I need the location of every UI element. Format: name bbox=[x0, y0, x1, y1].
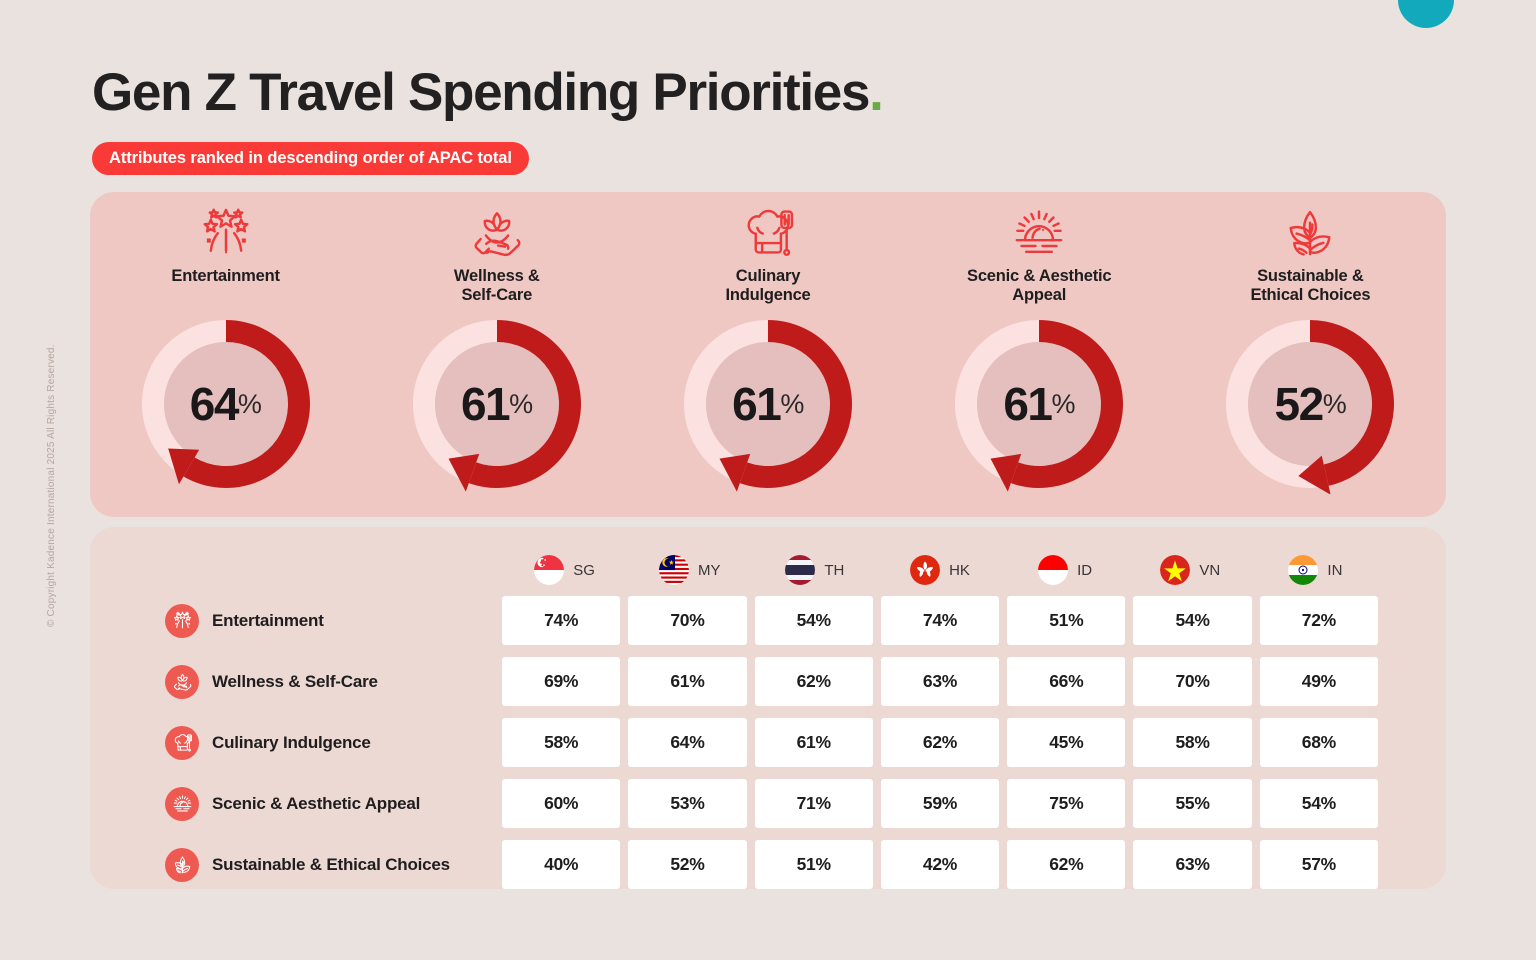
attribute-name: Culinary Indulgence bbox=[212, 733, 371, 753]
donut-label: CulinaryIndulgence bbox=[725, 267, 810, 306]
market-code: ID bbox=[1077, 562, 1092, 579]
table-cell: 63% bbox=[881, 657, 999, 706]
flag-malaysia bbox=[659, 555, 689, 585]
table-row: Wellness & Self-Care 69%61%62%63%66%70%4… bbox=[165, 654, 1378, 709]
page-title: Gen Z Travel Spending Priorities. bbox=[92, 62, 883, 123]
market-code: TH bbox=[824, 562, 844, 579]
flag-india bbox=[1288, 555, 1318, 585]
table-row-label: Sustainable & Ethical Choices bbox=[165, 848, 502, 882]
donut-chart: 61% bbox=[949, 314, 1129, 494]
table-row-label: Entertainment bbox=[165, 604, 502, 638]
table-cell: 66% bbox=[1007, 657, 1125, 706]
table-row-values: 58%64%61%62%45%58%68% bbox=[502, 718, 1378, 767]
donut-label-line1: Entertainment bbox=[171, 267, 279, 285]
leaf-plant-icon bbox=[165, 848, 199, 882]
donut-chart: 64% bbox=[136, 314, 316, 494]
table-cell: 54% bbox=[1260, 779, 1378, 828]
chef-hat-spatula-icon bbox=[740, 203, 796, 261]
table-cell: 51% bbox=[1007, 596, 1125, 645]
table-cell: 75% bbox=[1007, 779, 1125, 828]
fireworks-icon bbox=[165, 604, 199, 638]
donut-chart: 52% bbox=[1220, 314, 1400, 494]
hand-lotus-icon bbox=[165, 665, 199, 699]
table-row-label: Culinary Indulgence bbox=[165, 726, 502, 760]
table-cell: 72% bbox=[1260, 596, 1378, 645]
market-code: SG bbox=[573, 562, 595, 579]
flag-hongkong bbox=[910, 555, 940, 585]
table-cell: 58% bbox=[1133, 718, 1251, 767]
table-column-header: VN bbox=[1128, 545, 1253, 595]
flag-singapore bbox=[534, 555, 564, 585]
table-row: Culinary Indulgence 58%64%61%62%45%58%68… bbox=[165, 715, 1378, 770]
sunrise-icon bbox=[165, 787, 199, 821]
table-panel: SG MY TH HK ID VN IN Entertainment 74%70… bbox=[90, 527, 1446, 889]
donut-card: Entertainment 64% bbox=[90, 192, 361, 517]
table-cell: 51% bbox=[755, 840, 873, 889]
table-cell: 57% bbox=[1260, 840, 1378, 889]
attribute-name: Entertainment bbox=[212, 611, 324, 631]
market-code: VN bbox=[1199, 562, 1220, 579]
table-cell: 40% bbox=[502, 840, 620, 889]
subtitle-badge: Attributes ranked in descending order of… bbox=[92, 142, 529, 175]
flag-vietnam bbox=[1160, 555, 1190, 585]
table-cell: 62% bbox=[755, 657, 873, 706]
market-code: IN bbox=[1327, 562, 1342, 579]
table-row-values: 40%52%51%42%62%63%57% bbox=[502, 840, 1378, 889]
table-cell: 62% bbox=[881, 718, 999, 767]
table-cell: 53% bbox=[628, 779, 746, 828]
donut-label-line2: Appeal bbox=[1012, 286, 1066, 304]
attribute-name: Wellness & Self-Care bbox=[212, 672, 378, 692]
table-cell: 54% bbox=[755, 596, 873, 645]
flag-indonesia bbox=[1038, 555, 1068, 585]
donut-label-line2: Ethical Choices bbox=[1250, 286, 1370, 304]
copyright-text: © Copyright Kadence International 2025 A… bbox=[46, 307, 57, 627]
donut-card: Sustainable &Ethical Choices 52% bbox=[1175, 192, 1446, 517]
table-cell: 49% bbox=[1260, 657, 1378, 706]
donut-grid: Entertainment 64% Wellness &Self-Care 61… bbox=[90, 192, 1446, 517]
table-cell: 58% bbox=[502, 718, 620, 767]
table-row-label: Scenic & Aesthetic Appeal bbox=[165, 787, 502, 821]
chef-hat-spatula-icon bbox=[165, 726, 199, 760]
table-row: Sustainable & Ethical Choices 40%52%51%4… bbox=[165, 837, 1378, 892]
table-cell: 52% bbox=[628, 840, 746, 889]
table-cell: 63% bbox=[1133, 840, 1251, 889]
table-cell: 70% bbox=[628, 596, 746, 645]
flag-thailand bbox=[785, 555, 815, 585]
table-cell: 68% bbox=[1260, 718, 1378, 767]
table-column-header: SG bbox=[502, 545, 627, 595]
donut-label-line2: Self-Care bbox=[461, 286, 532, 304]
table-column-header: IN bbox=[1253, 545, 1378, 595]
title-dot: . bbox=[869, 63, 882, 122]
donut-chart: 61% bbox=[407, 314, 587, 494]
table-row-values: 74%70%54%74%51%54%72% bbox=[502, 596, 1378, 645]
fireworks-icon bbox=[198, 203, 254, 261]
table-cell: 61% bbox=[628, 657, 746, 706]
table-column-header: ID bbox=[1003, 545, 1128, 595]
subtitle-text: Attributes ranked in descending order of… bbox=[109, 149, 512, 168]
attribute-name: Scenic & Aesthetic Appeal bbox=[212, 794, 420, 814]
table-row-values: 69%61%62%63%66%70%49% bbox=[502, 657, 1378, 706]
market-code: HK bbox=[949, 562, 970, 579]
table-cell: 69% bbox=[502, 657, 620, 706]
donut-label-line1: Culinary bbox=[736, 267, 800, 285]
table-cell: 74% bbox=[502, 596, 620, 645]
table-cell: 54% bbox=[1133, 596, 1251, 645]
donut-card: CulinaryIndulgence 61% bbox=[632, 192, 903, 517]
sunrise-icon bbox=[1011, 203, 1067, 261]
table-cell: 59% bbox=[881, 779, 999, 828]
leaf-plant-icon bbox=[1282, 203, 1338, 261]
page-title-text: Gen Z Travel Spending Priorities bbox=[92, 63, 869, 122]
table-cell: 74% bbox=[881, 596, 999, 645]
market-table: SG MY TH HK ID VN IN Entertainment 74%70… bbox=[90, 527, 1446, 889]
table-cell: 55% bbox=[1133, 779, 1251, 828]
donut-card: Scenic & AestheticAppeal 61% bbox=[904, 192, 1175, 517]
table-cell: 61% bbox=[755, 718, 873, 767]
table-cell: 70% bbox=[1133, 657, 1251, 706]
donut-label: Sustainable &Ethical Choices bbox=[1250, 267, 1370, 306]
attribute-name: Sustainable & Ethical Choices bbox=[212, 855, 450, 875]
table-cell: 62% bbox=[1007, 840, 1125, 889]
table-row-label: Wellness & Self-Care bbox=[165, 665, 502, 699]
table-row: Scenic & Aesthetic Appeal 60%53%71%59%75… bbox=[165, 776, 1378, 831]
donut-label: Entertainment bbox=[171, 267, 279, 286]
table-cell: 60% bbox=[502, 779, 620, 828]
donut-chart: 61% bbox=[678, 314, 858, 494]
infographic-root: Gen Z Travel Spending Priorities. Attrib… bbox=[0, 0, 1536, 960]
table-cell: 64% bbox=[628, 718, 746, 767]
hand-lotus-icon bbox=[469, 203, 525, 261]
table-cell: 71% bbox=[755, 779, 873, 828]
donut-label: Scenic & AestheticAppeal bbox=[967, 267, 1111, 306]
table-column-header: TH bbox=[752, 545, 877, 595]
donut-label-line2: Indulgence bbox=[725, 286, 810, 304]
donut-label-line1: Sustainable & bbox=[1257, 267, 1364, 285]
table-header-row: SG MY TH HK ID VN IN bbox=[502, 545, 1378, 595]
donut-panel: Entertainment 64% Wellness &Self-Care 61… bbox=[90, 192, 1446, 517]
table-row: Entertainment 74%70%54%74%51%54%72% bbox=[165, 593, 1378, 648]
table-cell: 45% bbox=[1007, 718, 1125, 767]
donut-label: Wellness &Self-Care bbox=[454, 267, 540, 306]
donut-label-line1: Wellness & bbox=[454, 267, 540, 285]
teal-semicircle-decor bbox=[1398, 0, 1454, 28]
donut-label-line1: Scenic & Aesthetic bbox=[967, 267, 1111, 285]
table-body: Entertainment 74%70%54%74%51%54%72% Well… bbox=[165, 593, 1378, 892]
table-column-header: HK bbox=[877, 545, 1002, 595]
table-row-values: 60%53%71%59%75%55%54% bbox=[502, 779, 1378, 828]
market-code: MY bbox=[698, 562, 721, 579]
table-column-header: MY bbox=[627, 545, 752, 595]
donut-card: Wellness &Self-Care 61% bbox=[361, 192, 632, 517]
table-cell: 42% bbox=[881, 840, 999, 889]
